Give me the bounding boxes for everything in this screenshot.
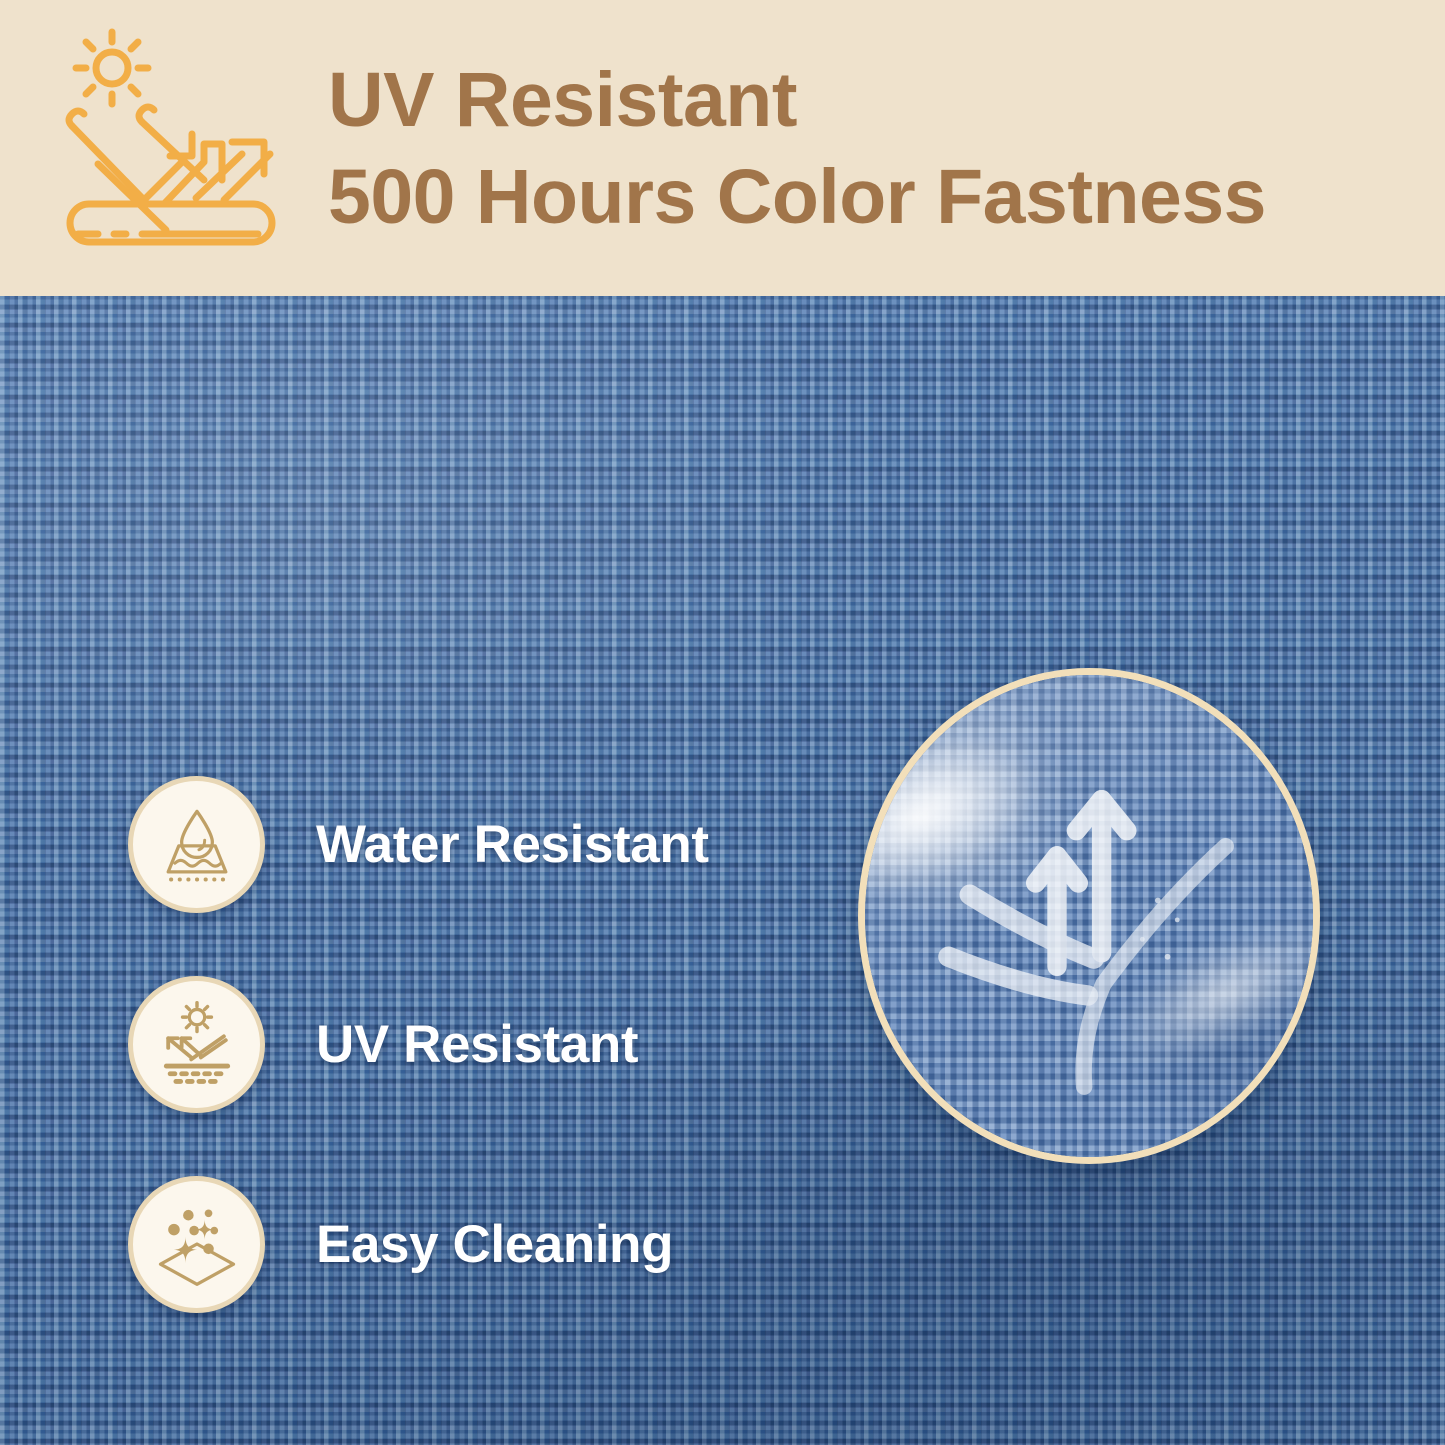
feature-label-uv-resistant: UV Resistant — [316, 1014, 638, 1075]
magnified-fabric-lens — [858, 668, 1320, 1164]
feature-label-easy-cleaning: Easy Cleaning — [316, 1214, 673, 1275]
header-title-line-1: UV Resistant — [328, 52, 1398, 149]
fabric-background: Water Resistant — [0, 296, 1445, 1445]
feature-item-uv-resistant: UV Resistant — [128, 944, 768, 1144]
feature-item-water-resistant: Water Resistant — [128, 744, 768, 944]
feature-label-water-resistant: Water Resistant — [316, 814, 709, 875]
uv-reflect-arrows-watermark — [865, 675, 1313, 1157]
product-feature-poster: UV Resistant 500 Hours Color Fastness — [0, 0, 1445, 1445]
header-title-line-2: 500 Hours Color Fastness — [328, 149, 1398, 246]
feature-item-easy-cleaning: Easy Cleaning — [128, 1144, 768, 1344]
header-title: UV Resistant 500 Hours Color Fastness — [328, 52, 1398, 246]
sun-reflect-fabric-icon — [128, 976, 265, 1113]
sun-uv-deflect-icon — [46, 22, 296, 272]
water-drop-fabric-icon — [128, 776, 265, 913]
sparkle-fabric-icon — [128, 1176, 265, 1313]
feature-list: Water Resistant — [128, 744, 768, 1344]
header-band: UV Resistant 500 Hours Color Fastness — [0, 0, 1445, 296]
